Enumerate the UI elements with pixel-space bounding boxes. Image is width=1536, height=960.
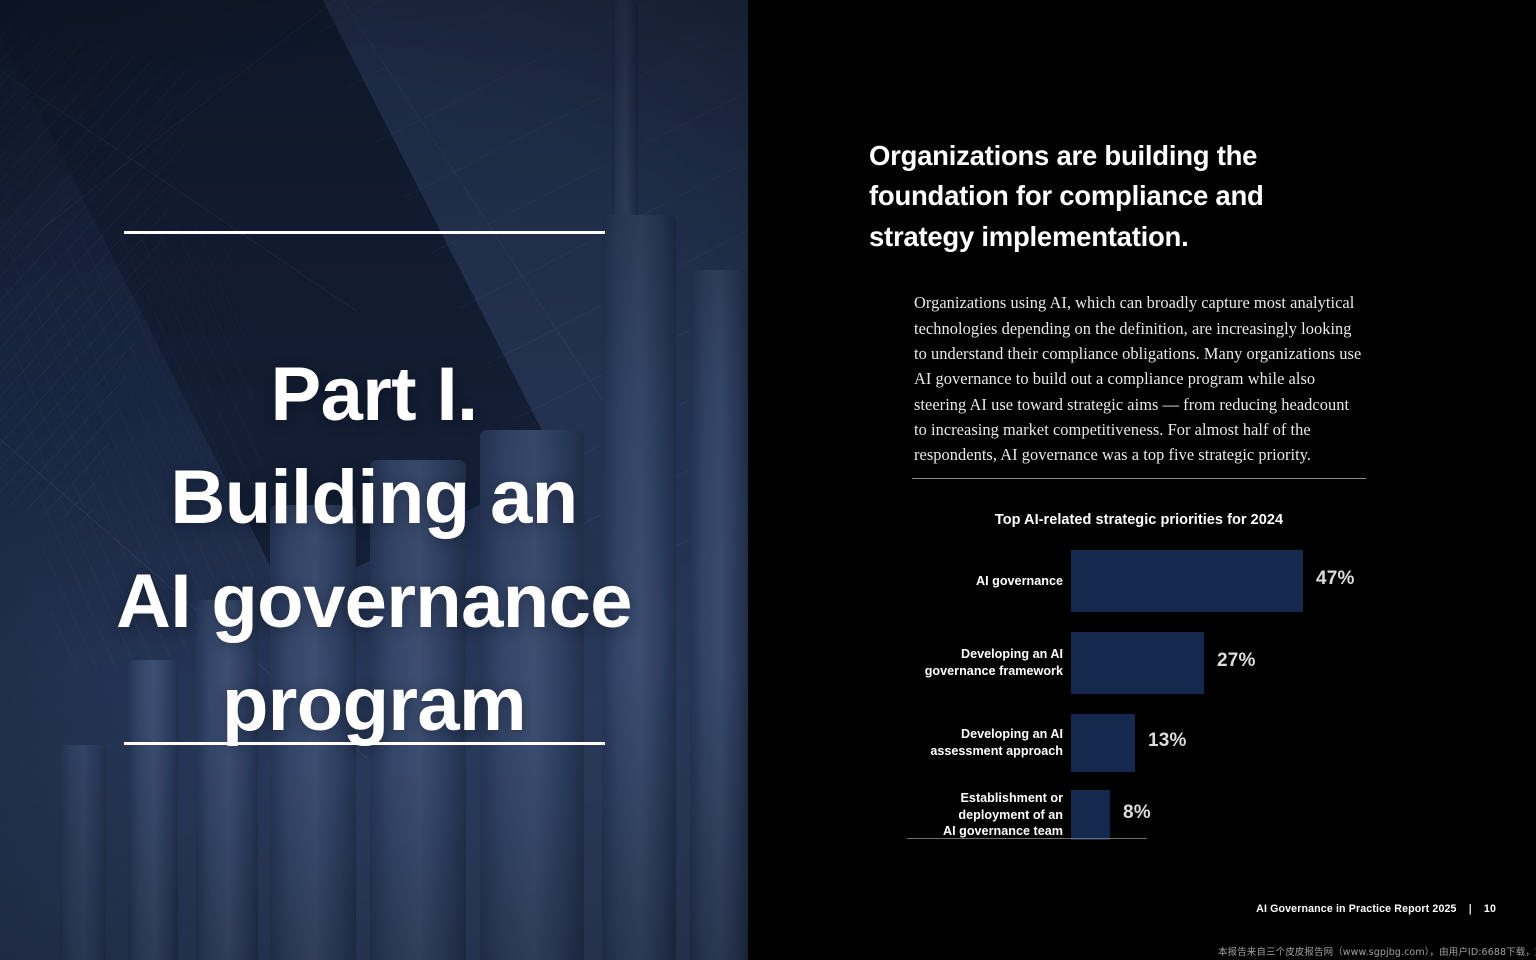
part-title-line-1: Part I. [60, 343, 688, 446]
chart-bar-row: Developing an AIgovernance framework27% [912, 632, 1366, 694]
chart-bar-label-line: AI governance [976, 574, 1063, 588]
chart-bar [1071, 714, 1135, 772]
page-watermark: 本报告来自三个皮皮报告网（www.sgpjbg.com），由用户ID:6688下… [1218, 944, 1536, 958]
title-rule-top [124, 231, 605, 234]
chart-bar-row: Developing an AIassessment approach13% [912, 714, 1366, 772]
right-page-content: Organizations are building the foundatio… [748, 0, 1536, 960]
pdf-two-page-spread: Part I. Building an AI governance progra… [0, 0, 1536, 960]
bar-chart: Top AI-related strategic priorities for … [748, 0, 1536, 960]
chart-baseline-axis [907, 838, 1147, 839]
part-title: Part I. Building an AI governance progra… [60, 343, 688, 756]
part-title-line-3: AI governance [60, 550, 688, 653]
chart-bar-label-line: deployment of an [958, 808, 1063, 822]
footer-page-number: 10 [1484, 903, 1496, 915]
chart-bar-row: Establishment ordeployment of anAI gover… [912, 790, 1366, 840]
chart-bar-label: Developing an AIassessment approach [883, 726, 1063, 759]
chart-bar-label-line: Developing an AI [961, 727, 1063, 741]
footer-separator: | [1469, 903, 1472, 915]
chart-bar-label: Developing an AIgovernance framework [883, 646, 1063, 679]
chart-bar-label: Establishment ordeployment of anAI gover… [883, 790, 1063, 840]
chart-bar [1071, 790, 1110, 840]
chart-bar [1071, 632, 1204, 694]
chart-bar-row: AI governance47% [912, 550, 1366, 612]
title-rule-bottom [124, 742, 605, 745]
chart-bar-label-line: Establishment or [961, 791, 1064, 805]
page-footer: AI Governance in Practice Report 2025 | … [1256, 903, 1496, 915]
footer-report-title: AI Governance in Practice Report 2025 [1256, 903, 1456, 915]
chart-bar [1071, 550, 1303, 612]
chart-plot-area: AI governance47%Developing an AIgovernan… [912, 550, 1366, 840]
chart-bar-label-line: assessment approach [930, 744, 1063, 758]
chart-bar-value: 27% [1217, 650, 1256, 672]
chart-title: Top AI-related strategic priorities for … [912, 512, 1366, 528]
chart-bar-label-line: governance framework [925, 664, 1063, 678]
left-page-section-divider: Part I. Building an AI governance progra… [0, 0, 748, 960]
chart-bar-value: 8% [1123, 802, 1151, 824]
chart-bar-value: 13% [1148, 730, 1187, 752]
chart-bar-label-line: AI governance team [943, 824, 1063, 838]
chart-bar-value: 47% [1316, 568, 1355, 590]
chart-bar-label: AI governance [883, 573, 1063, 590]
chart-bar-label-line: Developing an AI [961, 647, 1063, 661]
part-title-line-2: Building an [60, 446, 688, 549]
left-page-content: Part I. Building an AI governance progra… [0, 0, 748, 960]
part-title-line-4: program [60, 653, 688, 756]
